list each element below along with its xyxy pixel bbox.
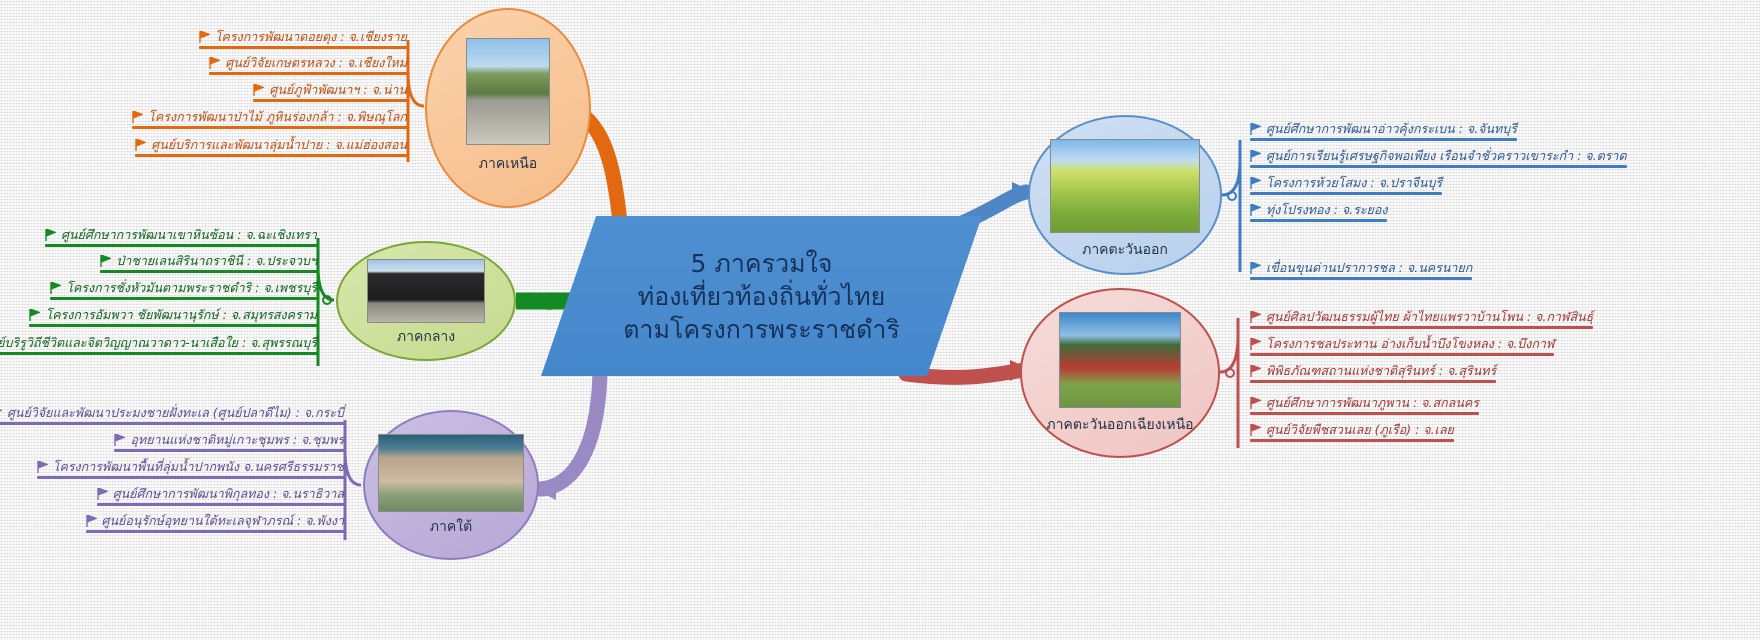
flag-icon bbox=[253, 84, 264, 96]
leaf-label: โครงการอัมพวา ชัยพัฒนานุรักษ์ : จ.สมุทรส… bbox=[45, 308, 317, 322]
leaf-central-3[interactable]: โครงการชั่งหัวมันตามพระราชดำริ : จ.เพชรบ… bbox=[50, 281, 317, 297]
region-label-south: ภาคใต้ bbox=[365, 516, 537, 538]
region-bubble-south[interactable]: ภาคใต้ bbox=[363, 410, 539, 560]
flag-icon bbox=[1250, 204, 1261, 216]
flag-icon bbox=[114, 434, 125, 446]
flag-icon bbox=[199, 31, 210, 43]
region-bubble-north[interactable]: ภาคเหนือ bbox=[425, 8, 591, 208]
leaf-label: ศูนย์ศึกษาการพัฒนาอ่าวคุ้งกระเบน : จ.จัน… bbox=[1266, 122, 1517, 136]
flag-icon bbox=[1250, 365, 1261, 377]
south-photo bbox=[378, 434, 524, 512]
leaf-central-4[interactable]: โครงการอัมพวา ชัยพัฒนานุรักษ์ : จ.สมุทรส… bbox=[29, 308, 317, 324]
flag-icon bbox=[209, 57, 220, 69]
leaf-label: ศูนย์อนุรักษ์อุทยานใต้ทะเลจุฬาภรณ์ : จ.พ… bbox=[102, 514, 344, 528]
leaf-northeast-5[interactable]: ศูนย์วิจัยพืชสวนเลย (ภูเรือ) : จ.เลย bbox=[1250, 423, 1454, 439]
flag-icon bbox=[45, 229, 56, 241]
flag-icon bbox=[1250, 424, 1261, 436]
flag-icon bbox=[1250, 397, 1261, 409]
leaf-central-5[interactable]: ศูนย์บริรูวิถีชีวิตและจิตวิญญาณวาดาว-นาเ… bbox=[0, 336, 317, 352]
leaf-east-2[interactable]: ศูนย์การเรียนรู้เศรษฐกิจพอเพียง เรือนจำช… bbox=[1250, 149, 1627, 165]
leaf-north-5[interactable]: ศูนย์บริการและพัฒนาลุ่มน้ำปาย : จ.แม่ฮ่อ… bbox=[135, 138, 407, 154]
flag-icon bbox=[0, 407, 2, 419]
center-line-2: ท่องเที่ยวท้องถิ่นทั่วไทย bbox=[638, 280, 886, 313]
mindmap-canvas: 5 ภาครวมใจ ท่องเที่ยวท้องถิ่นทั่วไทย ตาม… bbox=[0, 0, 1760, 640]
center-line-3: ตามโครงการพระราชดำริ bbox=[623, 313, 900, 346]
flag-icon bbox=[97, 488, 108, 500]
leaf-label: โครงการพัฒนาป่าไม้ ภูหินร่องกล้า : จ.พิษ… bbox=[148, 110, 407, 124]
leaf-east-1[interactable]: ศูนย์ศึกษาการพัฒนาอ่าวคุ้งกระเบน : จ.จัน… bbox=[1250, 122, 1517, 138]
leaf-label: พิพิธภัณฑสถานแห่งชาติสุรินทร์ : จ.สุรินท… bbox=[1266, 364, 1496, 378]
flag-icon bbox=[1250, 123, 1261, 135]
region-label-east: ภาคตะวันออก bbox=[1030, 239, 1220, 261]
center-line-1: 5 ภาครวมใจ bbox=[691, 247, 833, 280]
leaf-northeast-4[interactable]: ศูนย์ศึกษาการพัฒนาภูพาน : จ.สกลนคร bbox=[1250, 396, 1479, 412]
leaf-label: ศูนย์วิจัยเกษตรหลวง : จ.เชียงใหม่ bbox=[225, 56, 407, 70]
leaf-label: ศูนย์บริรูวิถีชีวิตและจิตวิญญาณวาดาว-นาเ… bbox=[0, 336, 317, 350]
flag-icon bbox=[37, 461, 48, 473]
region-label-central: ภาคกลาง bbox=[338, 326, 514, 348]
leaf-label: โครงการชลประทาน อ่างเก็บน้ำบึงโขงหลง : จ… bbox=[1266, 337, 1554, 351]
leaf-south-2[interactable]: อุทยานแห่งชาติหมู่เกาะชุมพร : จ.ชุมพร bbox=[114, 433, 344, 449]
leaf-central-2[interactable]: ป่าชายเลนสิรินาถราชินี : จ.ประจวบฯ bbox=[100, 254, 317, 270]
flag-icon bbox=[1250, 177, 1261, 189]
leaf-north-1[interactable]: โครงการพัฒนาดอยตุง : จ.เชียงราย bbox=[199, 30, 407, 46]
region-bubble-central[interactable]: ภาคกลาง bbox=[336, 241, 516, 361]
flag-icon bbox=[132, 111, 143, 123]
leaf-south-1[interactable]: ศูนย์วิจัยและพัฒนาประมงชายฝั่งทะเล (ศูนย… bbox=[0, 406, 344, 422]
leaf-label: ศูนย์ศึกษาการพัฒนาเขาหินซ้อน : จ.ฉะเชิงเ… bbox=[61, 228, 317, 242]
leaf-central-1[interactable]: ศูนย์ศึกษาการพัฒนาเขาหินซ้อน : จ.ฉะเชิงเ… bbox=[45, 228, 317, 244]
leaf-label: ศูนย์ศึกษาการพัฒนาภูพาน : จ.สกลนคร bbox=[1266, 396, 1479, 410]
leaf-northeast-1[interactable]: ศูนย์ศิลปวัฒนธรรมผู้ไทย ผ้าไทยแพรวาบ้านโ… bbox=[1250, 310, 1593, 326]
flag-icon bbox=[29, 309, 40, 321]
leaf-label: ศูนย์การเรียนรู้เศรษฐกิจพอเพียง เรือนจำช… bbox=[1266, 149, 1627, 163]
flag-icon bbox=[135, 139, 146, 151]
flag-icon bbox=[1250, 150, 1261, 162]
leaf-label: ศูนย์บริการและพัฒนาลุ่มน้ำปาย : จ.แม่ฮ่อ… bbox=[151, 138, 407, 152]
leaf-east-5[interactable]: เขื่อนขุนด่านปราการชล : จ.นครนายก bbox=[1250, 261, 1472, 277]
leaf-label: โครงการพัฒนาพื้นที่ลุ่มน้ำปากพนัง จ.นครศ… bbox=[53, 460, 344, 474]
leaf-north-3[interactable]: ศูนย์ภูฟ้าพัฒนาฯ : จ.น่าน bbox=[253, 83, 407, 99]
region-label-north: ภาคเหนือ bbox=[427, 153, 589, 175]
leaf-label: เขื่อนขุนด่านปราการชล : จ.นครนายก bbox=[1266, 261, 1472, 275]
leaf-label: โครงการพัฒนาดอยตุง : จ.เชียงราย bbox=[215, 30, 407, 44]
leaf-east-4[interactable]: ทุ่งโปรงทอง : จ.ระยอง bbox=[1250, 203, 1387, 219]
leaf-label: โครงการห้วยโสมง : จ.ปราจีนบุรี bbox=[1266, 176, 1442, 190]
region-label-northeast: ภาคตะวันออกเฉียงเหนือ bbox=[1022, 414, 1218, 436]
leaf-north-2[interactable]: ศูนย์วิจัยเกษตรหลวง : จ.เชียงใหม่ bbox=[209, 56, 407, 72]
region-bubble-east[interactable]: ภาคตะวันออก bbox=[1028, 115, 1222, 275]
flag-icon bbox=[86, 515, 97, 527]
leaf-label: ศูนย์ศึกษาการพัฒนาพิกุลทอง : จ.นราธิวาส bbox=[113, 487, 344, 501]
flag-icon bbox=[1250, 338, 1261, 350]
leaf-south-5[interactable]: ศูนย์อนุรักษ์อุทยานใต้ทะเลจุฬาภรณ์ : จ.พ… bbox=[86, 514, 344, 530]
leaf-north-4[interactable]: โครงการพัฒนาป่าไม้ ภูหินร่องกล้า : จ.พิษ… bbox=[132, 110, 407, 126]
leaf-label: โครงการชั่งหัวมันตามพระราชดำริ : จ.เพชรบ… bbox=[66, 281, 317, 295]
flag-icon bbox=[100, 255, 111, 267]
region-bubble-northeast[interactable]: ภาคตะวันออกเฉียงเหนือ bbox=[1020, 288, 1220, 458]
leaf-label: อุทยานแห่งชาติหมู่เกาะชุมพร : จ.ชุมพร bbox=[130, 433, 344, 447]
leaf-label: ศูนย์วิจัยและพัฒนาประมงชายฝั่งทะเล (ศูนย… bbox=[7, 406, 344, 420]
leaf-northeast-3[interactable]: พิพิธภัณฑสถานแห่งชาติสุรินทร์ : จ.สุรินท… bbox=[1250, 364, 1496, 380]
leaf-northeast-2[interactable]: โครงการชลประทาน อ่างเก็บน้ำบึงโขงหลง : จ… bbox=[1250, 337, 1554, 353]
leaf-south-4[interactable]: ศูนย์ศึกษาการพัฒนาพิกุลทอง : จ.นราธิวาส bbox=[97, 487, 344, 503]
north-photo bbox=[466, 38, 550, 145]
east-photo bbox=[1050, 139, 1200, 233]
flag-icon bbox=[1250, 311, 1261, 323]
northeast-photo bbox=[1059, 312, 1181, 408]
flag-icon bbox=[1250, 262, 1261, 274]
leaf-label: ศูนย์ภูฟ้าพัฒนาฯ : จ.น่าน bbox=[269, 83, 407, 97]
leaf-east-3[interactable]: โครงการห้วยโสมง : จ.ปราจีนบุรี bbox=[1250, 176, 1442, 192]
leaf-label: ศูนย์วิจัยพืชสวนเลย (ภูเรือ) : จ.เลย bbox=[1266, 423, 1454, 437]
leaf-label: ป่าชายเลนสิรินาถราชินี : จ.ประจวบฯ bbox=[116, 254, 317, 268]
leaf-label: ศูนย์ศิลปวัฒนธรรมผู้ไทย ผ้าไทยแพรวาบ้านโ… bbox=[1266, 310, 1593, 324]
leaf-label: ทุ่งโปรงทอง : จ.ระยอง bbox=[1266, 203, 1387, 217]
leaf-south-3[interactable]: โครงการพัฒนาพื้นที่ลุ่มน้ำปากพนัง จ.นครศ… bbox=[37, 460, 344, 476]
center-node[interactable]: 5 ภาครวมใจ ท่องเที่ยวท้องถิ่นทั่วไทย ตาม… bbox=[541, 216, 982, 376]
central-photo bbox=[367, 259, 485, 323]
flag-icon bbox=[50, 282, 61, 294]
